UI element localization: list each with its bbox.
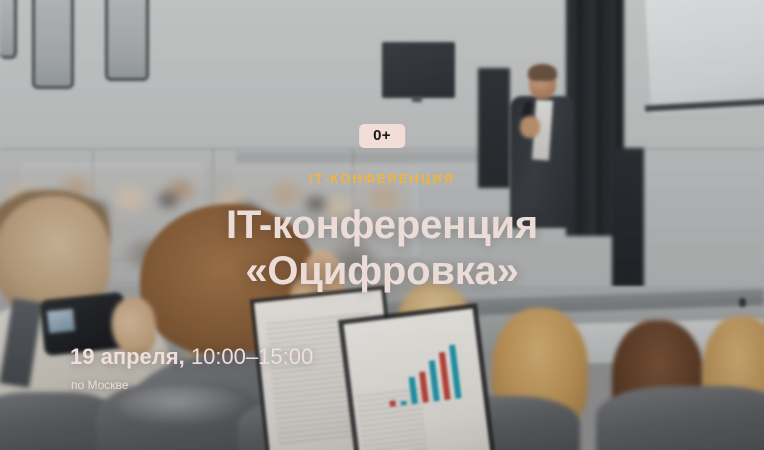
page-title-line-1: IT-конференция	[0, 203, 764, 249]
event-timezone-note: по Москве	[71, 378, 128, 392]
page-title: IT-конференция «Оцифровка»	[0, 203, 764, 294]
event-category-label: IT-КОНФЕРЕНЦИЯ	[0, 171, 764, 186]
hero-content: 0+ IT-КОНФЕРЕНЦИЯ IT-конференция «Оцифро…	[0, 0, 764, 450]
event-datetime: 19 апреля, 10:00–15:00	[70, 345, 313, 369]
event-time-range: 10:00–15:00	[191, 344, 313, 369]
conference-hero-banner: 0+ IT-КОНФЕРЕНЦИЯ IT-конференция «Оцифро…	[0, 0, 764, 450]
event-date: 19 апреля,	[70, 344, 185, 369]
age-rating-badge: 0+	[359, 124, 405, 148]
page-title-line-2: «Оцифровка»	[0, 249, 764, 295]
